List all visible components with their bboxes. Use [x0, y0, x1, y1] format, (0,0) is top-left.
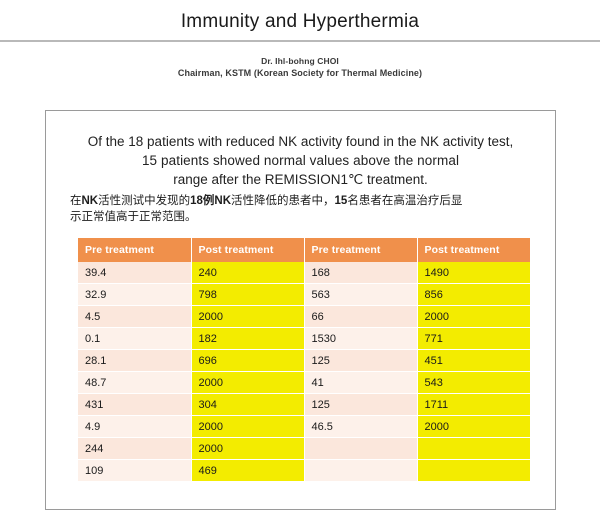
- table-row: 4.9200046.52000: [78, 416, 530, 438]
- cell-post-treatment-2: [417, 460, 530, 482]
- cell-post-treatment-1: 2000: [191, 416, 304, 438]
- cell-pre-treatment-2: 1530: [304, 328, 417, 350]
- cell-post-treatment-2: 543: [417, 372, 530, 394]
- cell-pre-treatment-1: 39.4: [78, 262, 191, 284]
- cell-pre-treatment-2: [304, 438, 417, 460]
- cell-post-treatment-2: 2000: [417, 306, 530, 328]
- cell-pre-treatment-2: 41: [304, 372, 417, 394]
- cell-pre-treatment-1: 4.5: [78, 306, 191, 328]
- table-row: 4313041251711: [78, 394, 530, 416]
- cell-post-treatment-2: 1711: [417, 394, 530, 416]
- cell-post-treatment-2: 771: [417, 328, 530, 350]
- slide-header: Immunity and Hyperthermia Dr. Ihl-bohng …: [0, 0, 600, 80]
- statement-english-line-1: Of the 18 patients with reduced NK activ…: [60, 132, 541, 151]
- nk-activity-table: Pre treatment Post treatment Pre treatme…: [78, 238, 530, 482]
- statement-english: Of the 18 patients with reduced NK activ…: [46, 111, 555, 189]
- cell-post-treatment-2: 856: [417, 284, 530, 306]
- table-row: 32.9798563856: [78, 284, 530, 306]
- cell-post-treatment-2: 2000: [417, 416, 530, 438]
- cell-post-treatment-1: 304: [191, 394, 304, 416]
- cell-pre-treatment-1: 431: [78, 394, 191, 416]
- cell-post-treatment-1: 798: [191, 284, 304, 306]
- cell-pre-treatment-2: 66: [304, 306, 417, 328]
- cell-post-treatment-1: 182: [191, 328, 304, 350]
- cell-post-treatment-1: 2000: [191, 372, 304, 394]
- cell-pre-treatment-2: 125: [304, 350, 417, 372]
- cell-pre-treatment-2: 563: [304, 284, 417, 306]
- page-title: Immunity and Hyperthermia: [0, 0, 600, 34]
- table-row: 39.42401681490: [78, 262, 530, 284]
- table-row: 4.52000662000: [78, 306, 530, 328]
- author-affiliation: Chairman, KSTM (Korean Society for Therm…: [0, 67, 600, 80]
- cell-pre-treatment-2: 125: [304, 394, 417, 416]
- title-divider: [0, 40, 600, 42]
- cell-post-treatment-1: 2000: [191, 306, 304, 328]
- cell-post-treatment-1: 240: [191, 262, 304, 284]
- cell-pre-treatment-1: 109: [78, 460, 191, 482]
- cell-pre-treatment-1: 244: [78, 438, 191, 460]
- cell-pre-treatment-1: 0.1: [78, 328, 191, 350]
- cell-post-treatment-2: 451: [417, 350, 530, 372]
- cell-pre-treatment-2: 46.5: [304, 416, 417, 438]
- cell-post-treatment-1: 469: [191, 460, 304, 482]
- table-body: 39.4240168149032.97985638564.52000662000…: [78, 262, 530, 482]
- cell-post-treatment-1: 696: [191, 350, 304, 372]
- nk-activity-table-container: Pre treatment Post treatment Pre treatme…: [78, 238, 530, 482]
- cell-post-treatment-2: 1490: [417, 262, 530, 284]
- statement-english-line-3: range after the REMISSION1℃ treatment.: [60, 170, 541, 189]
- table-row: 48.7200041543: [78, 372, 530, 394]
- statement-chinese-line-1: 在NK活性测试中发现的18例NK活性降低的患者中，15名患者在高温治疗后显: [70, 193, 533, 209]
- cell-pre-treatment-1: 32.9: [78, 284, 191, 306]
- column-header-pre-treatment-2: Pre treatment: [304, 238, 417, 262]
- table-header-row: Pre treatment Post treatment Pre treatme…: [78, 238, 530, 262]
- content-card: Of the 18 patients with reduced NK activ…: [45, 110, 556, 510]
- cell-pre-treatment-2: 168: [304, 262, 417, 284]
- byline: Dr. Ihl-bohng CHOI Chairman, KSTM (Korea…: [0, 55, 600, 80]
- table-row: 28.1696125451: [78, 350, 530, 372]
- author-name: Dr. Ihl-bohng CHOI: [0, 55, 600, 67]
- table-row: 109469: [78, 460, 530, 482]
- statement-english-line-2: 15 patients showed normal values above t…: [60, 151, 541, 170]
- statement-chinese: 在NK活性测试中发现的18例NK活性降低的患者中，15名患者在高温治疗后显 示正…: [46, 189, 555, 225]
- cell-pre-treatment-2: [304, 460, 417, 482]
- column-header-pre-treatment-1: Pre treatment: [78, 238, 191, 262]
- cell-post-treatment-2: [417, 438, 530, 460]
- cell-pre-treatment-1: 28.1: [78, 350, 191, 372]
- table-row: 0.11821530771: [78, 328, 530, 350]
- column-header-post-treatment-1: Post treatment: [191, 238, 304, 262]
- cell-pre-treatment-1: 48.7: [78, 372, 191, 394]
- column-header-post-treatment-2: Post treatment: [417, 238, 530, 262]
- statement-chinese-line-2: 示正常值高于正常范围。: [70, 209, 533, 225]
- table-row: 2442000: [78, 438, 530, 460]
- cell-post-treatment-1: 2000: [191, 438, 304, 460]
- cell-pre-treatment-1: 4.9: [78, 416, 191, 438]
